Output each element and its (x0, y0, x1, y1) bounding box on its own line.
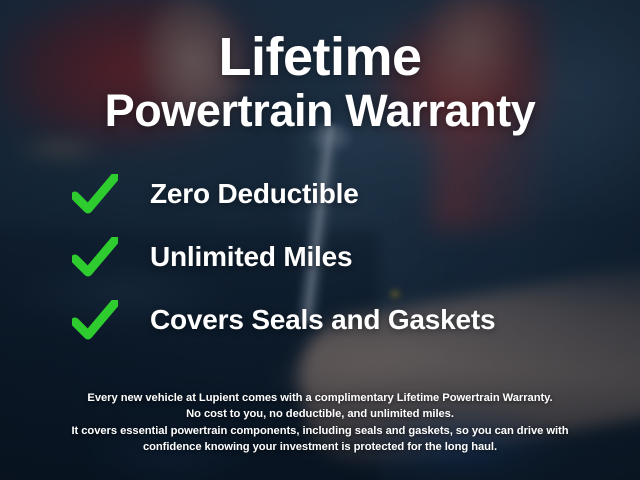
banner-content: Lifetime Powertrain Warranty Zero Deduct… (0, 0, 640, 480)
description-line-2: No cost to you, no deductible, and unlim… (28, 406, 612, 422)
feature-item-covers-seals-and-gaskets: Covers Seals and Gaskets (72, 288, 640, 351)
check-icon (72, 237, 118, 277)
warranty-banner: Lifetime Powertrain Warranty Zero Deduct… (0, 0, 640, 480)
description-line-3: It covers essential powertrain component… (28, 423, 612, 439)
check-icon (72, 300, 118, 340)
feature-list: Zero Deductible Unlimited Miles Covers S… (0, 162, 640, 351)
description-line-1: Every new vehicle at Lupient comes with … (28, 390, 612, 406)
feature-label: Unlimited Miles (150, 241, 352, 273)
feature-item-unlimited-miles: Unlimited Miles (72, 225, 640, 288)
description-line-4: confidence knowing your investment is pr… (28, 439, 612, 455)
headline-block: Lifetime Powertrain Warranty (0, 28, 640, 136)
headline-line-1: Lifetime (0, 28, 640, 86)
description-block: Every new vehicle at Lupient comes with … (0, 390, 640, 456)
feature-label: Covers Seals and Gaskets (150, 304, 495, 336)
feature-label: Zero Deductible (150, 178, 359, 210)
headline-line-2: Powertrain Warranty (0, 86, 640, 136)
feature-item-zero-deductible: Zero Deductible (72, 162, 640, 225)
check-icon (72, 174, 118, 214)
